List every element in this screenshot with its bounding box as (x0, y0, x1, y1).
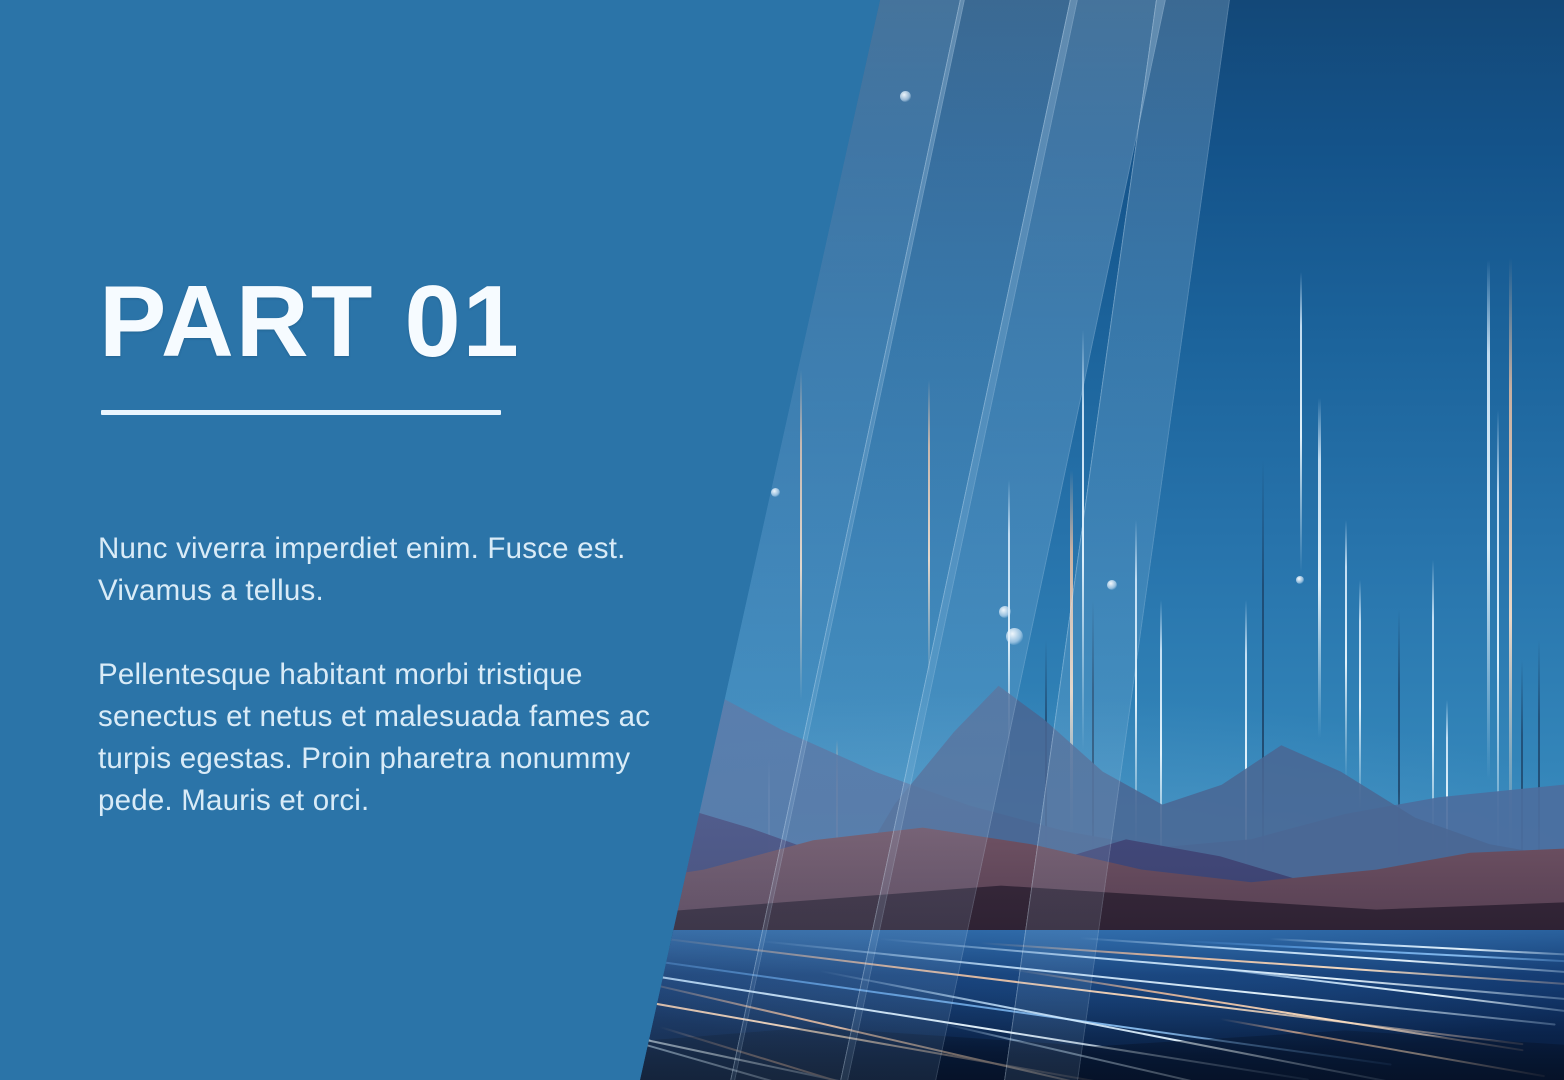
body-paragraph-2: Pellentesque habitant morbi tristique se… (98, 654, 698, 822)
page-title: PART 01 (99, 272, 521, 373)
title-underline-rule (101, 410, 501, 415)
body-paragraph-1: Nunc viverra imperdiet enim. Fusce est. … (98, 528, 698, 612)
body-text-block: Nunc viverra imperdiet enim. Fusce est. … (98, 528, 698, 822)
presentation-slide: PART 01 Nunc viverra imperdiet enim. Fus… (0, 0, 1564, 1080)
